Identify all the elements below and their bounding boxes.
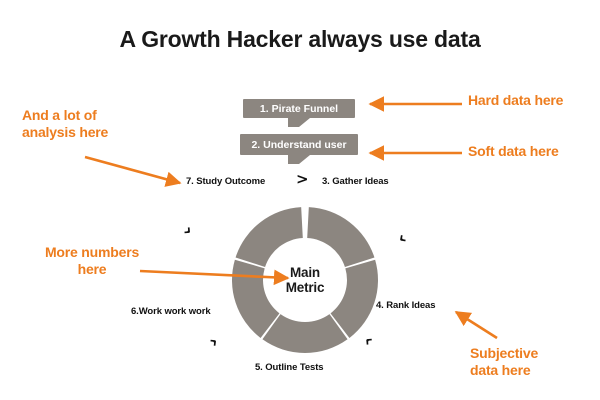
funnel-step-1-pointer: [288, 118, 310, 127]
donut-segment-7[interactable]: [236, 207, 303, 267]
annotation-soft-data: Soft data here: [468, 143, 559, 160]
donut-segment-5[interactable]: [262, 314, 347, 353]
funnel-step-2-label: 2. Understand user: [251, 139, 346, 151]
page-title: A Growth Hacker always use data: [0, 26, 600, 53]
funnel-step-1-label: 1. Pirate Funnel: [260, 103, 338, 115]
donut-segment-3[interactable]: [307, 207, 374, 267]
cycle-label-study-outcome[interactable]: 7. Study Outcome: [186, 176, 265, 187]
annotation-subjective-data: Subjective data here: [470, 345, 538, 379]
chevron-icon-lower-left: ⌄: [201, 333, 223, 355]
cycle-label-rank-ideas[interactable]: 4. Rank Ideas: [376, 300, 435, 311]
annotation-more-numbers: More numbers here: [28, 244, 156, 278]
funnel-step-2[interactable]: 2. Understand user: [240, 134, 358, 155]
infographic-canvas: A Growth Hacker always use data 1. Pirat…: [0, 0, 600, 400]
arrow-subjective: [456, 312, 497, 338]
funnel-step-2-pointer: [288, 155, 310, 164]
chevron-icon-upper-left: ⌄: [175, 219, 197, 241]
chevron-right-icon: >: [296, 172, 309, 187]
annotation-hard-data: Hard data here: [468, 92, 563, 109]
cycle-label-outline-tests[interactable]: 5. Outline Tests: [255, 362, 323, 373]
funnel-step-1[interactable]: 1. Pirate Funnel: [243, 99, 355, 118]
arrow-analysis: [85, 157, 180, 183]
cycle-label-gather-ideas[interactable]: 3. Gather Ideas: [322, 176, 389, 187]
chevron-icon-upper-right: ⌄: [393, 227, 415, 248]
cycle-label-work-work-work[interactable]: 6.Work work work: [131, 306, 211, 317]
annotation-analysis: And a lot of analysis here: [22, 107, 108, 141]
